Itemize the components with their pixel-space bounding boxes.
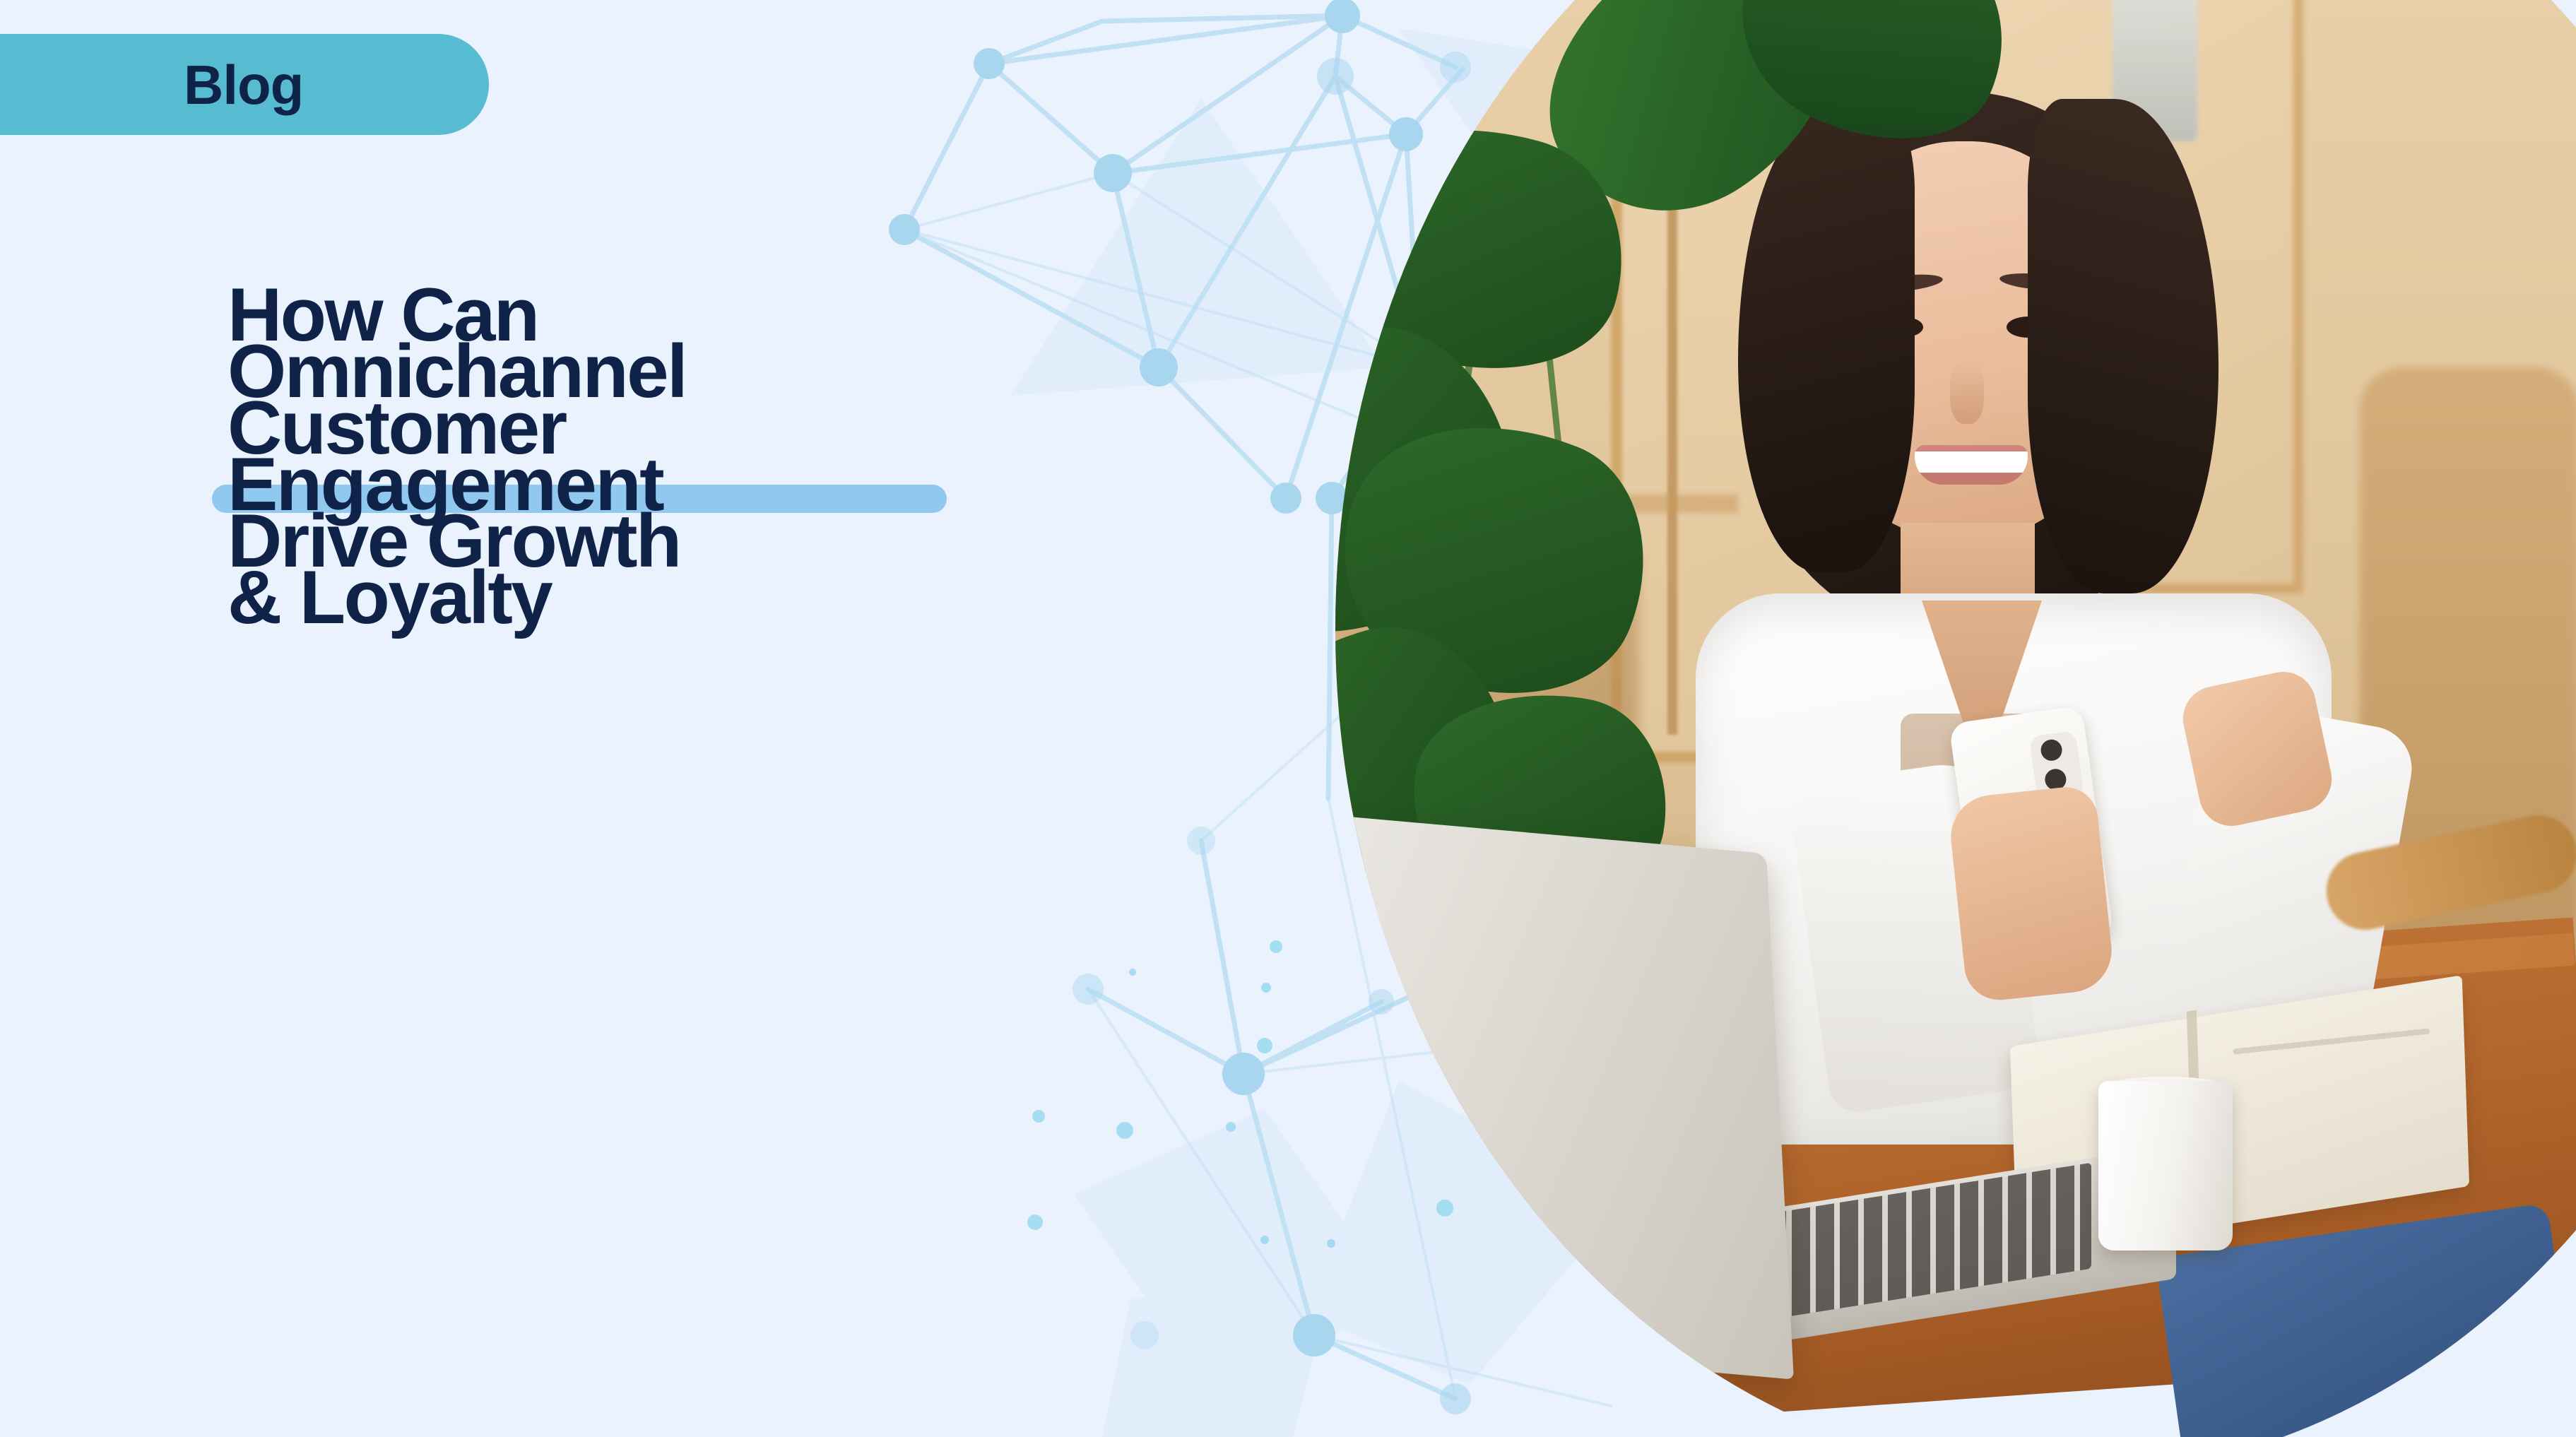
headline-text: & Loyalty	[228, 555, 551, 639]
nose	[1950, 360, 1984, 424]
headline-line-3: Customer	[228, 390, 1287, 447]
headline-line-6: & Loyalty	[228, 560, 1287, 616]
page-title: How Can Omnichannel Customer Engagement …	[228, 277, 1287, 616]
blog-badge[interactable]: Blog	[0, 34, 489, 135]
headline-line-4-highlighted: Engagement	[228, 447, 1287, 503]
blog-hero-banner: Blog How Can Omnichannel Customer Engage…	[0, 0, 2576, 1437]
coffee-mug	[2098, 1081, 2233, 1250]
blog-badge-label: Blog	[184, 57, 303, 112]
hero-photo	[1243, 0, 2576, 1437]
hand-holding-phone	[1946, 784, 2115, 1003]
laptop-screen-lid	[1280, 810, 1794, 1379]
headline-line-1: How Can	[228, 277, 1287, 333]
headline-line-2: Omnichannel	[228, 333, 1287, 390]
smiling-mouth	[1915, 445, 2028, 485]
